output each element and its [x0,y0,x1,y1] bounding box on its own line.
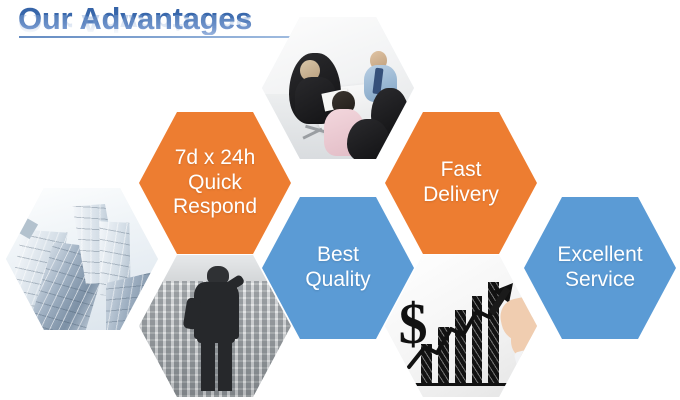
hex-cell-quick-respond[interactable]: 7d x 24h Quick Respond [139,112,291,254]
hex-cell-fast-delivery[interactable]: Fast Delivery [385,112,537,254]
hex-label-best-quality: Best Quality [299,243,376,293]
hex-label-fast-delivery: Fast Delivery [417,158,505,208]
hex-label-excellent-service: Excellent Service [551,243,648,293]
hex-cell-excellent-service[interactable]: Excellent Service [524,197,676,339]
hex-cell-skyscrapers[interactable] [6,188,158,330]
glass-skyscrapers-photo [6,188,158,330]
hex-cell-office-meeting[interactable] [262,17,414,159]
hex-label-quick-respond: 7d x 24h Quick Respond [167,146,263,220]
hexagon-honeycomb: 7d x 24h Quick Respond Fast Delivery [0,0,680,400]
office-meeting-photo [262,17,414,159]
